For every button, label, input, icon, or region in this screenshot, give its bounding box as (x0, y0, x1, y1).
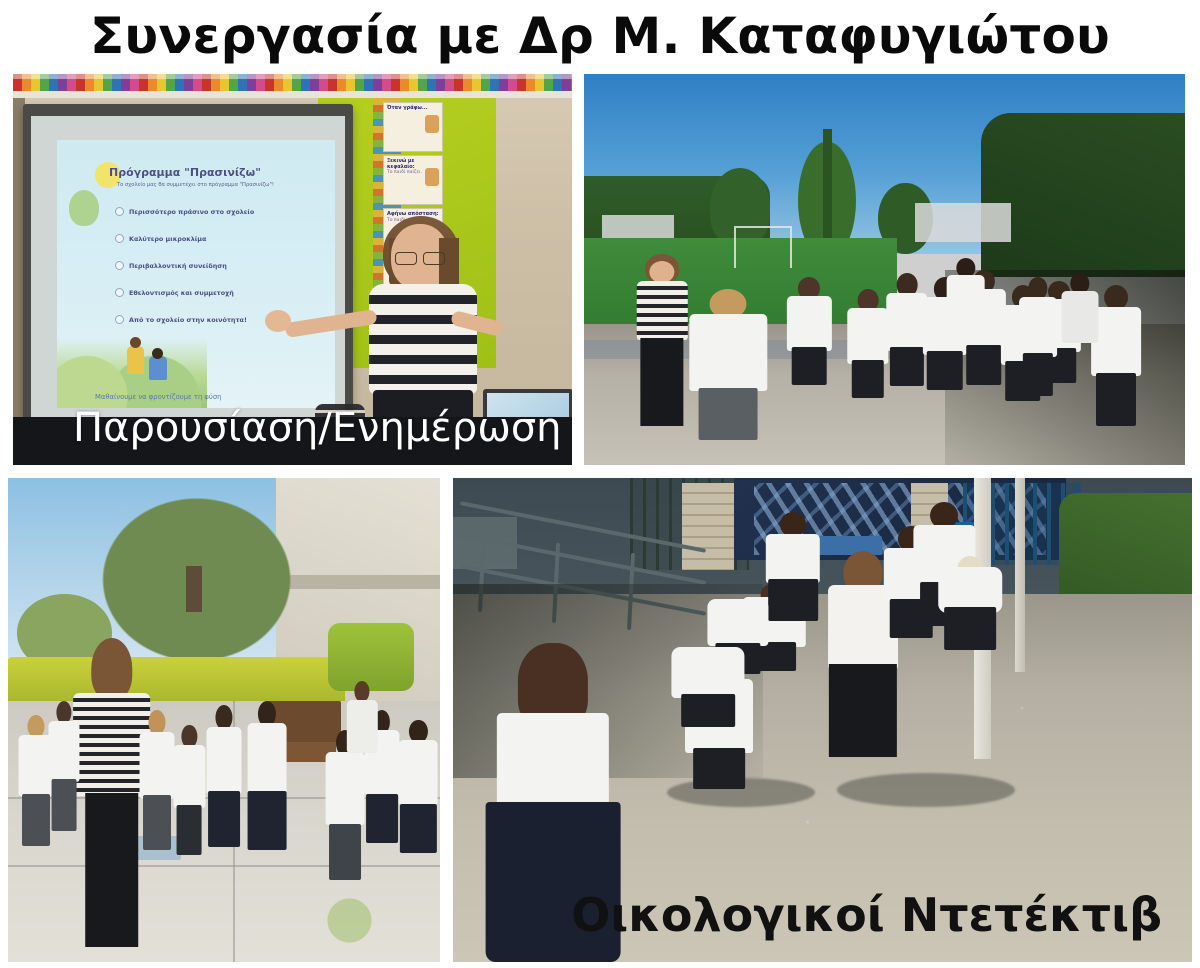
white-shirt (140, 732, 175, 799)
pupil-figure (345, 681, 380, 797)
pupil-figure (172, 725, 207, 870)
bullet-dot-icon (115, 288, 124, 297)
hedge (8, 657, 345, 705)
white-shirt (1061, 291, 1098, 344)
bullet-dot-icon (115, 234, 124, 243)
schoolyard-photo (584, 74, 1185, 465)
wall-poster: Όταν γράφω... (383, 102, 443, 152)
pupil-figure (47, 701, 82, 846)
poster-root: Συνεργασία με Δρ Μ. Καταφυγιώτου Πρόγραμ… (0, 0, 1200, 968)
white-shirt (787, 296, 831, 351)
bullet-label: Περιβαλλοντική συνείδηση (129, 262, 227, 270)
shorts (143, 795, 171, 849)
cypress-tree (788, 121, 866, 254)
slide-title: Πρόγραμμα "Πρασινίζω" (109, 166, 325, 179)
poster-figure-icon (425, 115, 439, 133)
photo-caption: Παρουσίαση/Ενημέρωση (73, 405, 562, 451)
whiteboard-screen: Πρόγραμμα "Πρασινίζω" Το σχολείο μας θα … (31, 116, 345, 426)
white-shirt (399, 740, 438, 805)
skirt (366, 794, 398, 844)
striped-top (637, 281, 687, 339)
white-shirt (766, 534, 820, 583)
shorts (52, 779, 77, 831)
building (915, 203, 1011, 242)
shorts (944, 607, 996, 650)
pupil-figure-crouching (667, 647, 748, 744)
list-item: Περισσότερο πράσινο στο σχολείο (127, 198, 327, 225)
page-title: Συνεργασία με Δρ Μ. Καταφυγιώτου (0, 0, 1200, 72)
skirt (890, 347, 924, 386)
eco-detectives-photo: Οικολογικοί Ντετέκτιβ (453, 478, 1192, 962)
pupil-figure (785, 277, 833, 402)
trousers (85, 793, 139, 948)
bullet-label: Περισσότερο πράσινο στο σχολείο (129, 208, 254, 216)
bullet-label: Καλύτερο μικροκλίμα (129, 235, 206, 243)
pupil-figure-bending (933, 560, 1007, 666)
building (602, 215, 674, 238)
pupil-figure (763, 512, 822, 628)
pupil-figure (397, 720, 440, 875)
skirt (640, 338, 683, 426)
courtyard-photo (8, 478, 440, 962)
support-pole (1015, 478, 1025, 672)
shorts (22, 794, 50, 846)
white-shirt (49, 721, 80, 782)
hair (91, 638, 132, 700)
rainbow-supplies-shelf-icon (13, 74, 572, 91)
white-shirt (847, 308, 888, 364)
slide-footer: Μαθαίνουμε να φροντίζουμε τη φύση (95, 393, 327, 401)
slide-subtitle: Το σχολείο μας θα συμμετέχει στο πρόγραμ… (117, 182, 323, 188)
projected-slide: Πρόγραμμα "Πρασινίζω" Το σχολείο μας θα … (57, 140, 335, 408)
interactive-whiteboard: Πρόγραμμα "Πρασινίζω" Το σχολείο μας θα … (23, 104, 353, 436)
glasses-icon (395, 252, 445, 263)
slide-bullet-list: Περισσότερο πράσινο στο σχολείο Καλύτερο… (127, 198, 327, 333)
shorts (852, 360, 884, 398)
pupil-figure (1059, 273, 1101, 382)
child-illustration-a (127, 346, 144, 374)
goal-post (734, 226, 792, 267)
white-shirt (206, 727, 241, 794)
bullet-dot-icon (115, 207, 124, 216)
shelf-edge (13, 91, 572, 98)
skirt (248, 791, 287, 850)
hand-pointing (265, 310, 291, 332)
teacher-figure (632, 254, 692, 426)
shorts (792, 347, 827, 385)
white-shirt (248, 723, 287, 794)
white-shirt (690, 314, 767, 391)
photo-caption: Οικολογικοί Ντετέκτιβ (571, 888, 1162, 942)
skirt (829, 664, 897, 757)
bullet-label: Από το σχολείο στην κοινότητα! (129, 316, 247, 324)
white-shirt (1019, 297, 1057, 357)
child-illustration-b (149, 356, 167, 380)
shorts (681, 694, 735, 727)
white-shirt (497, 713, 609, 809)
skirt (768, 579, 818, 621)
presentation-photo: Πρόγραμμα "Πρασινίζω" Το σχολείο μας θα … (13, 74, 572, 465)
pupil-figure (945, 258, 987, 360)
shorts (1023, 353, 1053, 396)
wall-poster: Ξεκινώ με κεφαλαίο: Το παιδί παίζει. (383, 155, 443, 205)
shorts (1096, 373, 1136, 426)
poster-figure-icon (425, 168, 439, 186)
hedge-right (981, 113, 1185, 277)
pupil-figure (686, 289, 770, 465)
list-item: Καλύτερο μικροκλίμα (127, 225, 327, 252)
pupil-figure (1017, 277, 1059, 410)
poster-title: Όταν γράφω... (387, 106, 439, 112)
striped-top (369, 284, 477, 394)
white-shirt (946, 275, 985, 326)
pupil-figure (138, 710, 177, 865)
skirt (208, 791, 240, 847)
tree-illustration (69, 190, 99, 226)
bullet-dot-icon (115, 315, 124, 324)
white-shirt (707, 599, 768, 646)
list-item: Περιβαλλοντική συνείδηση (127, 252, 327, 279)
list-item: Εθελοντισμός και συμμετοχή (127, 279, 327, 306)
pupil-figure (246, 701, 289, 875)
shorts (329, 824, 361, 880)
white-shirt (347, 700, 377, 753)
shorts (177, 805, 202, 856)
white-shirt (174, 745, 205, 807)
bullet-label: Εθελοντισμός και συμμετοχή (129, 289, 234, 297)
shorts (693, 748, 745, 788)
pupil-figure (205, 705, 244, 870)
skirt (400, 804, 436, 854)
shorts (699, 388, 758, 441)
bullet-dot-icon (115, 261, 124, 270)
white-shirt (671, 647, 744, 697)
